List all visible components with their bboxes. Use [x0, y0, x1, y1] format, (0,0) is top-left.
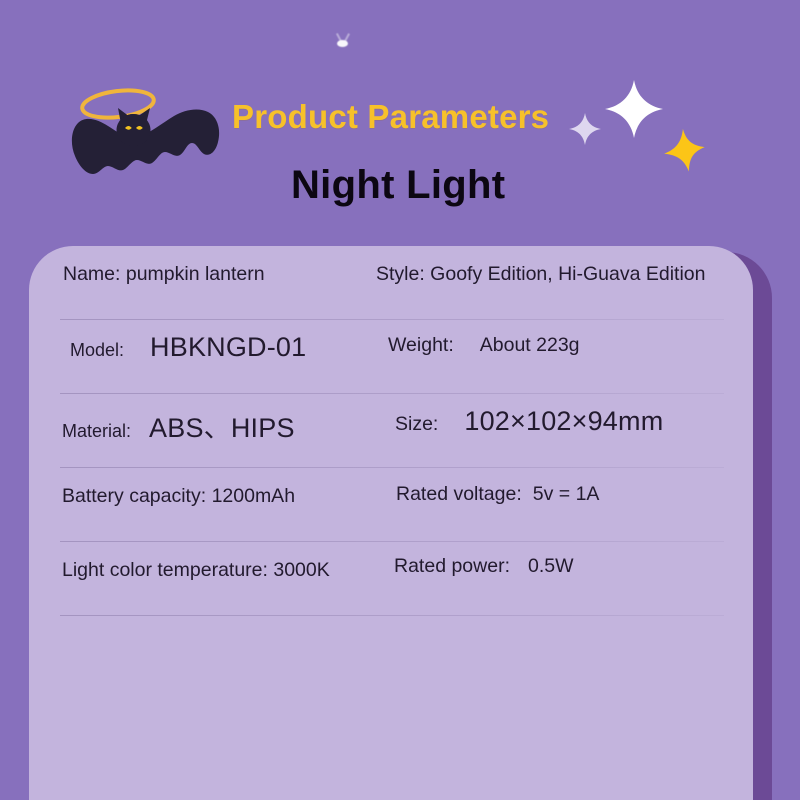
param-cell-rated-voltage: Rated voltage: 5v = 1A	[396, 483, 599, 506]
param-label: Light color temperature: 3000K	[62, 559, 330, 582]
param-label: Model:	[70, 340, 124, 361]
param-cell-style: Style: Goofy Edition, Hi-Guava Edition	[376, 263, 706, 286]
page-header: Product Parameters Night Light	[0, 0, 800, 240]
param-label: Rated power:	[394, 555, 510, 578]
param-cell-rated-power: Rated power: 0.5W	[394, 555, 574, 578]
param-value: 0.5W	[528, 555, 574, 578]
param-value: 5v = 1A	[533, 483, 600, 506]
table-row: Light color temperature: 3000K Rated pow…	[29, 542, 753, 616]
param-label: Rated voltage:	[396, 483, 522, 506]
param-label: Battery capacity: 1200mAh	[62, 485, 295, 508]
page-subtitle: Night Light	[291, 163, 505, 208]
param-label: Name: pumpkin lantern	[63, 263, 265, 286]
tiny-sparkle-icon	[337, 40, 348, 47]
param-label: Material:	[62, 421, 131, 442]
table-row: Material: ABS、HIPS Size: 102×102×94mm	[29, 394, 753, 468]
sparkle-star-yellow-icon	[660, 127, 708, 175]
table-row: Name: pumpkin lantern Style: Goofy Editi…	[29, 246, 753, 320]
param-cell-name: Name: pumpkin lantern	[63, 263, 265, 286]
param-cell-model: Model: HBKNGD-01	[70, 332, 306, 363]
table-row: Model: HBKNGD-01 Weight: About 223g	[29, 320, 753, 394]
table-row: Battery capacity: 1200mAh Rated voltage:…	[29, 468, 753, 542]
page-title: Product Parameters	[232, 98, 549, 136]
param-cell-material: Material: ABS、HIPS	[62, 406, 295, 445]
bat-with-halo-icon	[58, 78, 238, 188]
param-value: About 223g	[480, 334, 580, 357]
param-value: 102×102×94mm	[464, 406, 663, 437]
param-cell-color-temperature: Light color temperature: 3000K	[62, 559, 330, 582]
param-label: Weight:	[388, 334, 454, 357]
parameter-rows: Name: pumpkin lantern Style: Goofy Editi…	[29, 246, 753, 616]
sparkle-star-large-icon	[604, 79, 664, 139]
param-label: Size:	[395, 413, 438, 436]
row-divider	[60, 615, 724, 617]
param-value: HBKNGD-01	[150, 332, 306, 363]
param-label: Style: Goofy Edition, Hi-Guava Edition	[376, 263, 706, 286]
param-cell-battery-capacity: Battery capacity: 1200mAh	[62, 485, 295, 508]
param-value: ABS、HIPS	[149, 406, 295, 445]
parameter-card: Name: pumpkin lantern Style: Goofy Editi…	[29, 246, 753, 800]
param-cell-weight: Weight: About 223g	[388, 334, 580, 357]
sparkle-star-small-icon	[568, 112, 602, 146]
product-parameters-page: Product Parameters Night Light Name:	[0, 0, 800, 800]
param-cell-size: Size: 102×102×94mm	[395, 406, 663, 437]
